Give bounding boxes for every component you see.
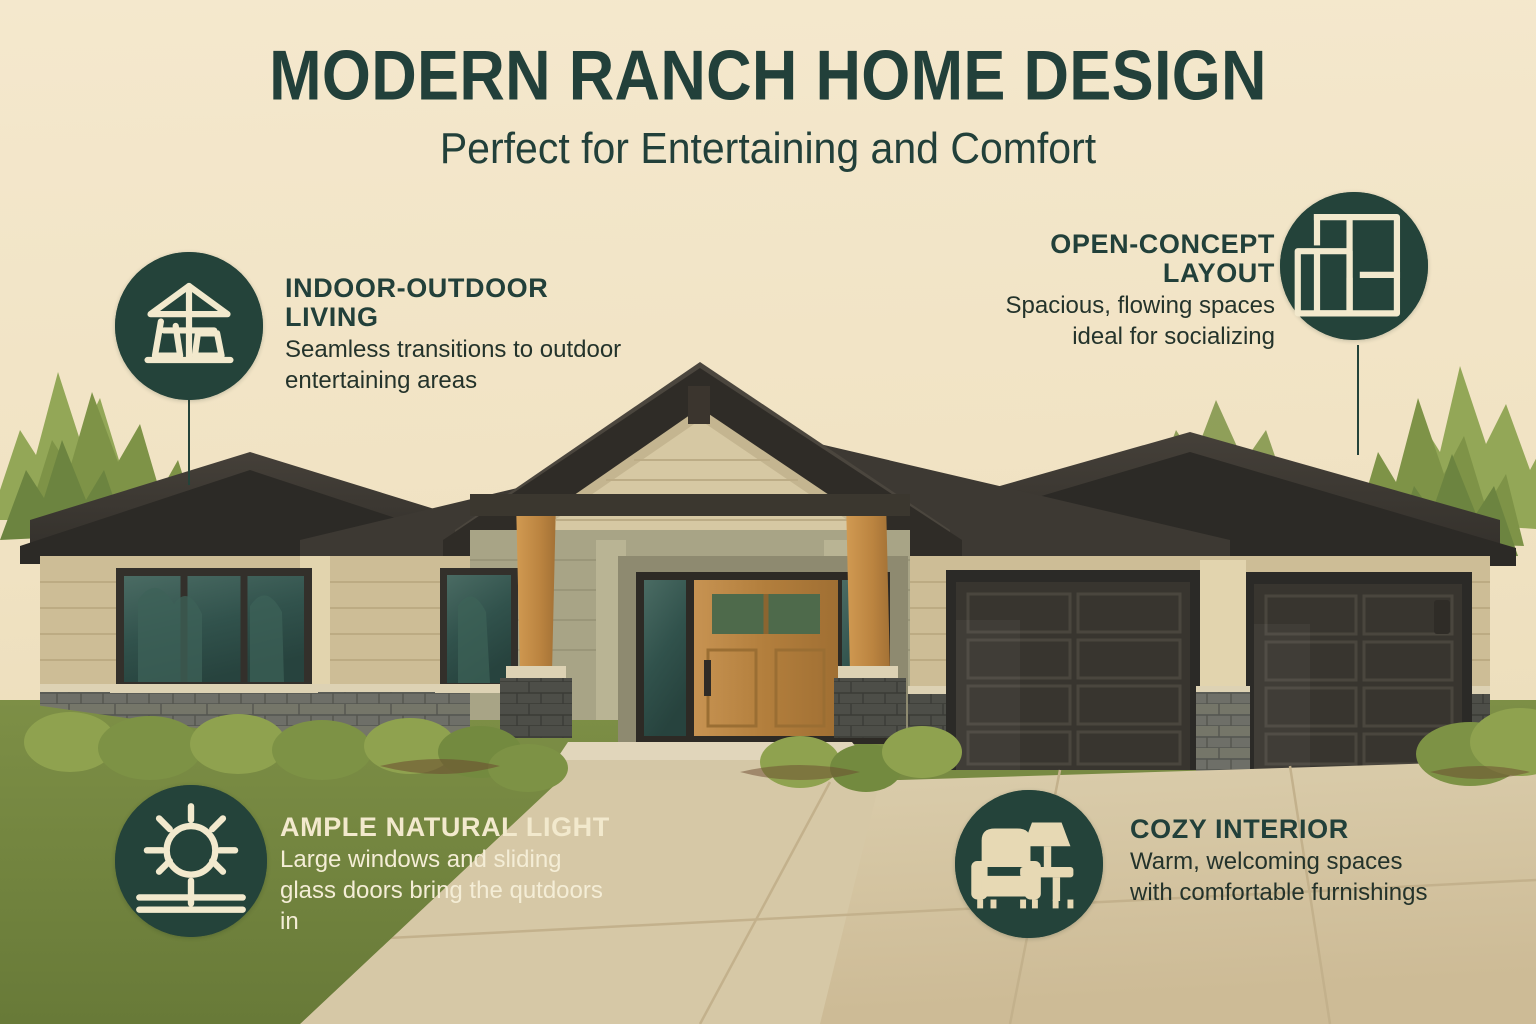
feature-title: COZY INTERIOR [1130,815,1450,844]
feature-description: Spacious, flowing spaces ideal for socia… [970,291,1275,352]
garage-pier-stone [1196,692,1250,772]
porch-beam [470,494,910,516]
garage-door-left [946,570,1200,770]
feature-description: Warm, welcoming spaces with comfortable … [1130,847,1450,908]
floor-plan-icon [1280,192,1428,340]
feature-text-open-concept: OPEN-CONCEPT LAYOUT Spacious, flowing sp… [970,230,1275,353]
feature-text-indoor-outdoor: INDOOR-OUTDOOR LIVING Seamless transitio… [285,274,630,397]
feature-description: Seamless transitions to outdoor entertai… [285,335,630,396]
armchair-lamp-icon [955,790,1103,938]
garage-pier-trim [1200,560,1246,692]
gable-bracket [688,386,710,424]
window-left-triple [110,568,318,693]
sidelight-left [644,580,686,736]
feature-description: Large windows and sliding glass doors br… [280,845,610,937]
leader-line-open-concept [1357,345,1359,455]
patio-umbrella-icon [115,252,263,400]
feature-text-cozy-interior: COZY INTERIOR Warm, welcoming spaces wit… [1130,815,1450,909]
door-handle [704,660,711,696]
feature-title: INDOOR-OUTDOOR LIVING [285,274,630,332]
feature-text-ample-natural-light: AMPLE NATURAL LIGHT Large windows and sl… [280,813,610,937]
coach-light [1434,600,1450,634]
leader-line-indoor-outdoor [188,395,190,485]
feature-title: AMPLE NATURAL LIGHT [280,813,610,842]
feature-title: OPEN-CONCEPT LAYOUT [970,230,1275,288]
infographic-poster: MODERN RANCH HOME DESIGN Perfect for Ent… [0,0,1536,1024]
sun-icon [115,785,267,937]
